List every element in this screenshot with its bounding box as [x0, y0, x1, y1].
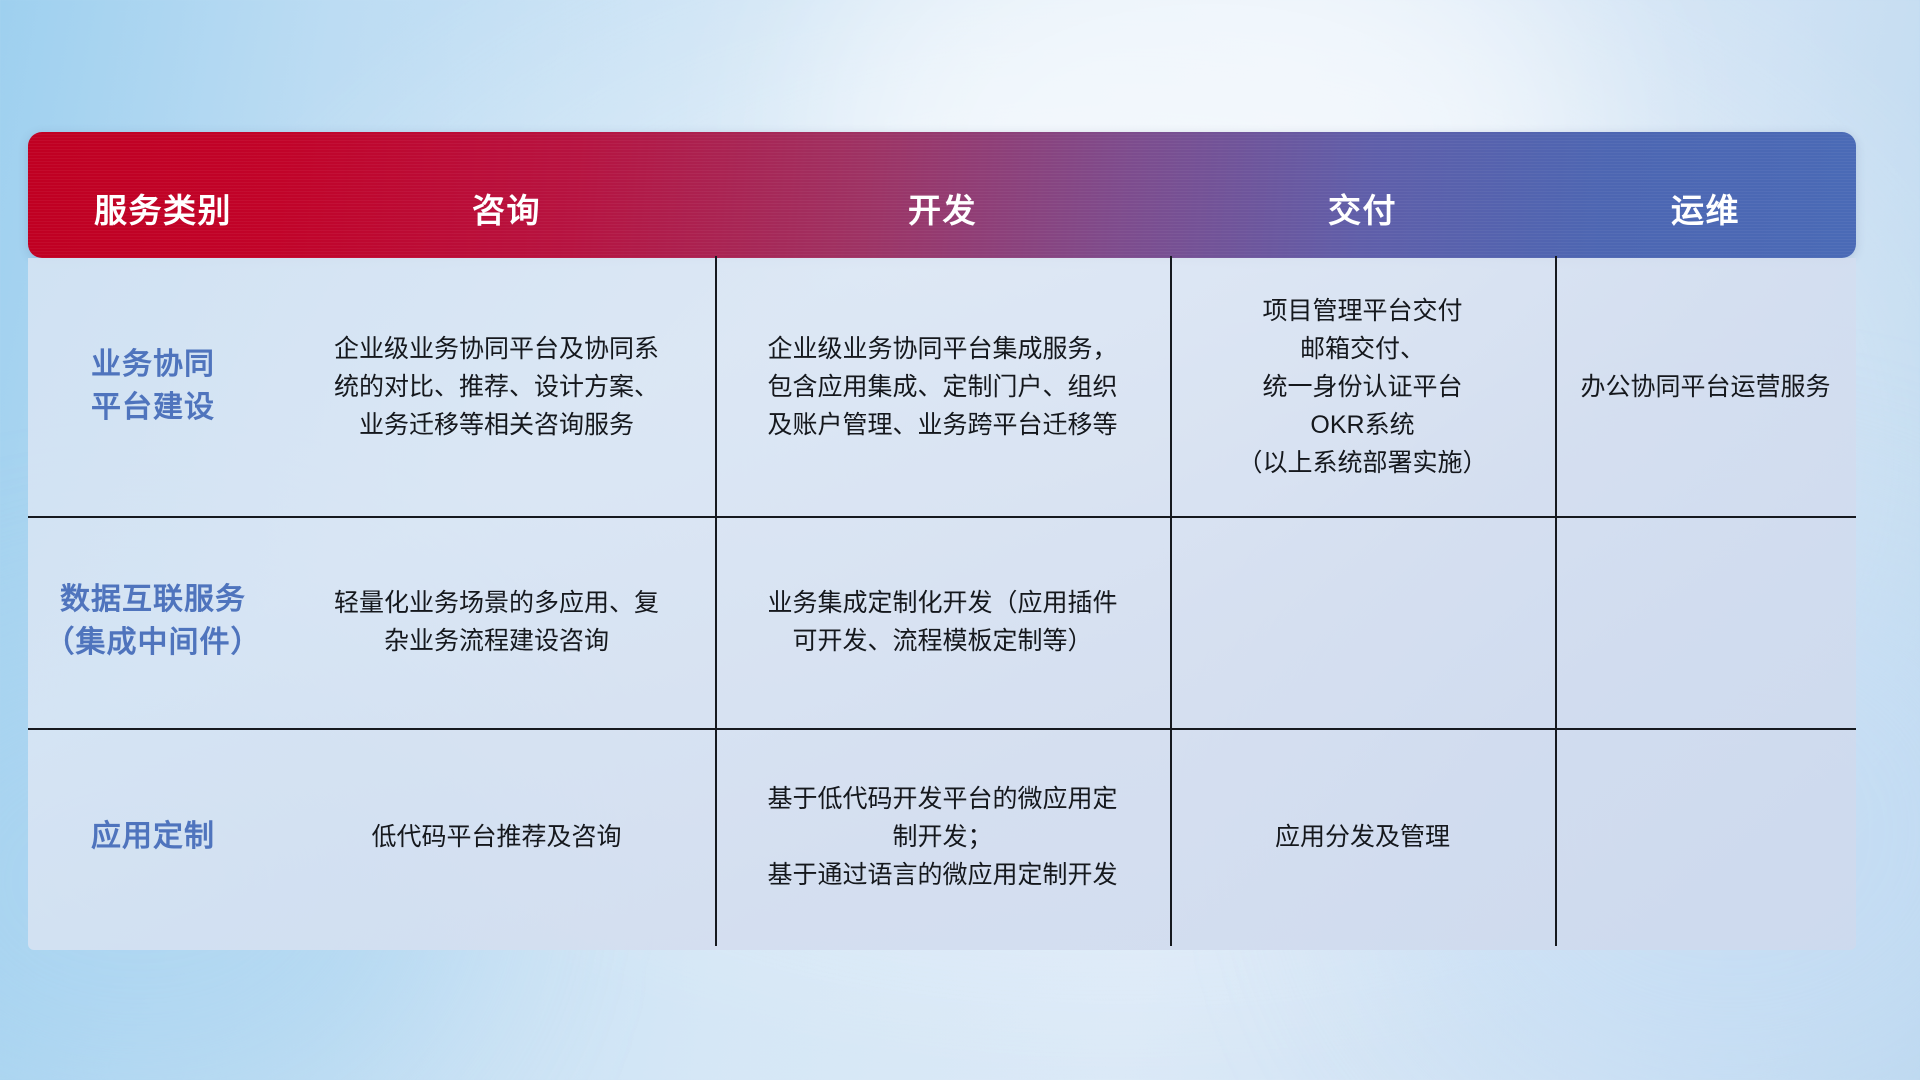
- cell-r1-delivery: 项目管理平台交付 邮箱交付、 统一身份认证平台 OKR系统 （以上系统部署实施）: [1170, 258, 1555, 516]
- cell-r3-operations: [1555, 728, 1856, 946]
- column-header-service-category: 服务类别: [28, 184, 298, 258]
- table-row: 应用定制 低代码平台推荐及咨询 基于低代码开发平台的微应用定 制开发； 基于通过…: [28, 728, 1856, 946]
- cell-r1-operations: 办公协同平台运营服务: [1555, 258, 1856, 516]
- table-header-row: 服务类别 咨询 开发 交付 运维: [28, 132, 1856, 258]
- table-row: 数据互联服务 （集成中间件） 轻量化业务场景的多应用、复 杂业务流程建设咨询 业…: [28, 516, 1856, 728]
- column-header-consulting: 咨询: [298, 184, 715, 258]
- row-label-business-collaboration: 业务协同 平台建设: [28, 258, 278, 516]
- row-label-app-customization: 应用定制: [28, 728, 278, 946]
- row-label-data-interconnection: 数据互联服务 （集成中间件）: [28, 516, 278, 728]
- column-header-operations: 运维: [1555, 184, 1856, 258]
- cell-r3-delivery: 应用分发及管理: [1170, 728, 1555, 946]
- cell-r2-delivery: [1170, 516, 1555, 728]
- table-row: 业务协同 平台建设 企业级业务协同平台及协同系 统的对比、推荐、设计方案、 业务…: [28, 258, 1856, 516]
- service-matrix-table: 服务类别 咨询 开发 交付 运维 业务协同 平台建设 企业级业务协同平台及协同系…: [28, 132, 1856, 950]
- cell-r1-development: 企业级业务协同平台集成服务， 包含应用集成、定制门户、组织 及账户管理、业务跨平…: [715, 258, 1170, 516]
- cell-r3-consulting: 低代码平台推荐及咨询: [278, 728, 715, 946]
- column-header-development: 开发: [715, 184, 1170, 258]
- column-header-delivery: 交付: [1170, 184, 1555, 258]
- cell-r3-development: 基于低代码开发平台的微应用定 制开发； 基于通过语言的微应用定制开发: [715, 728, 1170, 946]
- table-body: 业务协同 平台建设 企业级业务协同平台及协同系 统的对比、推荐、设计方案、 业务…: [28, 258, 1856, 950]
- cell-r2-development: 业务集成定制化开发（应用插件 可开发、流程模板定制等）: [715, 516, 1170, 728]
- cell-r1-consulting: 企业级业务协同平台及协同系 统的对比、推荐、设计方案、 业务迁移等相关咨询服务: [278, 258, 715, 516]
- cell-r2-operations: [1555, 516, 1856, 728]
- cell-r2-consulting: 轻量化业务场景的多应用、复 杂业务流程建设咨询: [278, 516, 715, 728]
